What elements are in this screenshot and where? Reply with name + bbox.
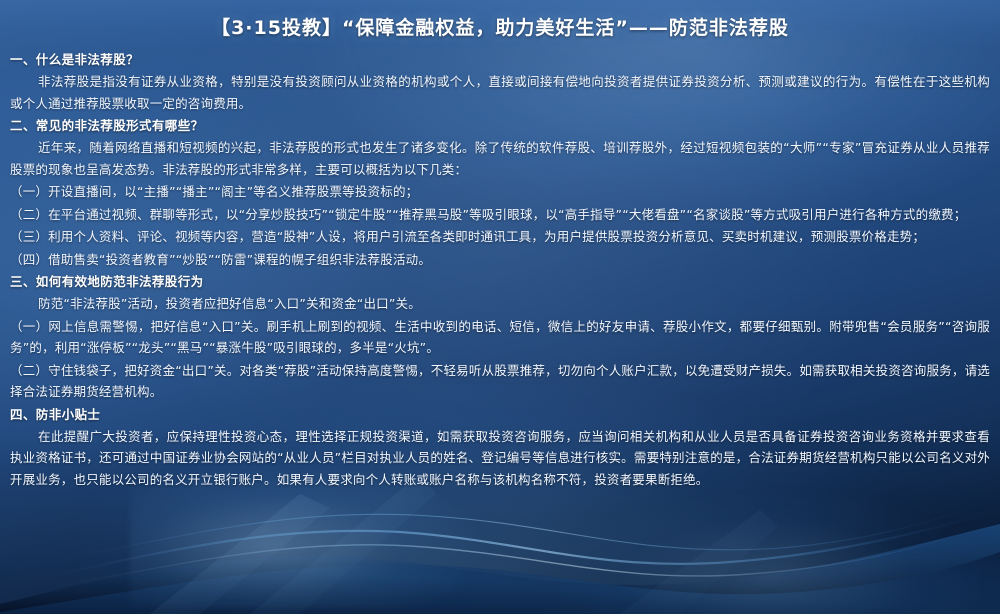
section-1: 一、什么是非法荐股？ 非法荐股是指没有证券从业资格，特别是没有投资顾问从业资格的… [10, 50, 990, 114]
section-2-heading: 二、常见的非法荐股形式有哪些？ [10, 116, 990, 136]
section-2-item-2: （二）在平台通过视频、群聊等形式，以“分享炒股技巧”“锁定牛股”“推荐黑马股”等… [10, 204, 990, 226]
section-2-paragraph: 近年来，随着网络直播和短视频的兴起，非法荐股的形式也发生了诸多变化。除了传统的软… [10, 137, 990, 180]
section-3: 三、如何有效地防范非法荐股行为 防范“非法荐股”活动，投资者应把好信息“入口”关… [10, 272, 990, 403]
section-4-paragraph: 在此提醒广大投资者，应保持理性投资心态，理性选择正规投资渠道，如需获取投资咨询服… [10, 426, 990, 491]
section-4-heading: 四、防非小贴士 [10, 405, 990, 425]
section-3-paragraph: 防范“非法荐股”活动，投资者应把好信息“入口”关和资金“出口”关。 [10, 293, 990, 315]
section-1-heading: 一、什么是非法荐股？ [10, 50, 990, 70]
section-2: 二、常见的非法荐股形式有哪些？ 近年来，随着网络直播和短视频的兴起，非法荐股的形… [10, 116, 990, 270]
section-4: 四、防非小贴士 在此提醒广大投资者，应保持理性投资心态，理性选择正规投资渠道，如… [10, 405, 990, 491]
poster-content: 一、什么是非法荐股？ 非法荐股是指没有证券从业资格，特别是没有投资顾问从业资格的… [10, 50, 990, 492]
poster-root: 【3·15投教】“保障金融权益，助力美好生活”——防范非法荐股 一、什么是非法荐… [0, 0, 1000, 614]
section-3-item-1: （一）网上信息需警惕，把好信息“入口”关。刷手机上刷到的视频、生活中收到的电话、… [10, 316, 990, 359]
section-3-heading: 三、如何有效地防范非法荐股行为 [10, 272, 990, 292]
section-1-paragraph: 非法荐股是指没有证券从业资格，特别是没有投资顾问从业资格的机构或个人，直接或间接… [10, 71, 990, 114]
section-3-item-2: （二）守住钱袋子，把好资金“出口”关。对各类“荐股”活动保持高度警惕，不轻易听从… [10, 360, 990, 403]
section-2-item-4: （四）借助售卖“投资者教育”“炒股”“防雷”课程的幌子组织非法荐股活动。 [10, 249, 990, 271]
section-2-item-3: （三）利用个人资料、评论、视频等内容，营造“股神”人设，将用户引流至各类即时通讯… [10, 226, 990, 248]
page-title: 【3·15投教】“保障金融权益，助力美好生活”——防范非法荐股 [0, 13, 1000, 40]
section-2-item-1: （一）开设直播间，以“主播”“播主”“阁主”等名义推荐股票等投资标的； [10, 181, 990, 203]
